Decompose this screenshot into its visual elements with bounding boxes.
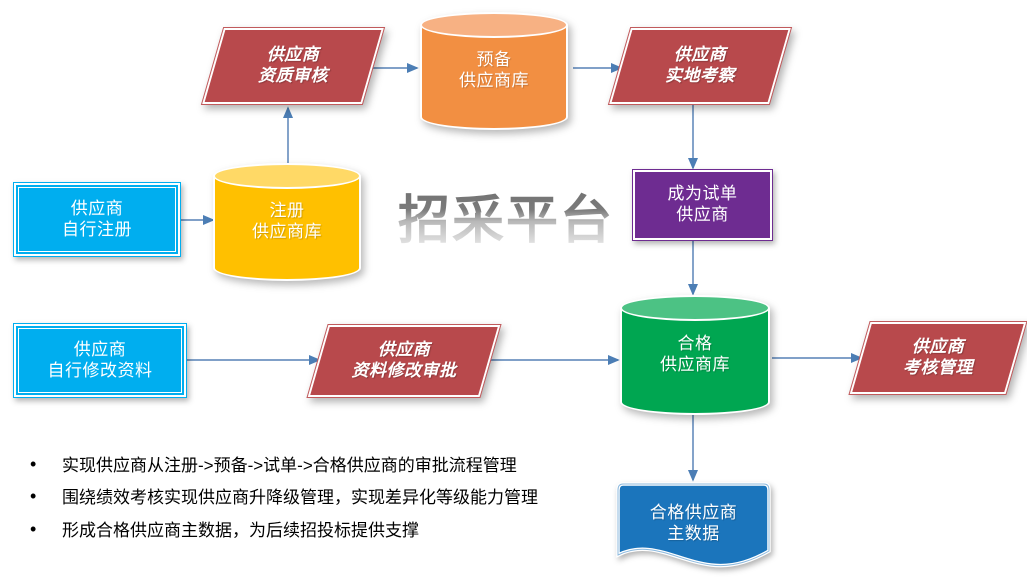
cylinder-top — [420, 12, 568, 38]
node-label: 供应商 自行注册 — [16, 199, 178, 240]
node-label: 供应商 资质审核 — [213, 45, 373, 86]
node-label: 供应商 自行修改资料 — [16, 340, 184, 381]
summary-bullet-list: 实现供应商从注册->预备->试单->合格供应商的审批流程管理 围绕绩效考核实现供… — [22, 455, 662, 552]
bullet-item: 围绕绩效考核实现供应商升降级管理，实现差异化等级能力管理 — [22, 487, 662, 508]
node-label: 合格 供应商库 — [620, 334, 770, 375]
node-assessment-management[interactable]: 供应商 考核管理 — [860, 322, 1016, 394]
bullet-item: 实现供应商从注册->预备->试单->合格供应商的审批流程管理 — [22, 455, 662, 476]
node-qualification-review[interactable]: 供应商 资质审核 — [213, 28, 373, 104]
node-label: 注册 供应商库 — [213, 201, 361, 242]
flowchart-canvas: 招采平台 供应商 自行注册 注册 供应商库 供应商 资质审核 预备 供应商库 供… — [0, 0, 1027, 583]
cylinder-top — [620, 295, 770, 321]
node-qualified-supplier-db[interactable]: 合格 供应商库 — [620, 295, 770, 415]
node-label: 供应商 实地考察 — [620, 45, 780, 86]
node-label: 供应商 考核管理 — [860, 337, 1016, 378]
node-data-change-approval[interactable]: 供应商 资料修改审批 — [318, 325, 490, 397]
node-supplier-self-register[interactable]: 供应商 自行注册 — [14, 183, 180, 256]
node-supplier-modify-data[interactable]: 供应商 自行修改资料 — [14, 324, 186, 397]
bullet-item: 形成合格供应商主数据，为后续招投标提供支撑 — [22, 520, 662, 541]
node-reserve-supplier-db[interactable]: 预备 供应商库 — [420, 12, 568, 130]
cylinder-top — [213, 163, 361, 189]
platform-watermark: 招采平台 — [398, 178, 614, 253]
node-on-site-inspection[interactable]: 供应商 实地考察 — [620, 28, 780, 104]
node-register-supplier-db[interactable]: 注册 供应商库 — [213, 163, 361, 281]
node-trial-order-supplier[interactable]: 成为试单 供应商 — [633, 170, 772, 240]
node-label: 预备 供应商库 — [420, 50, 568, 91]
node-label: 成为试单 供应商 — [635, 184, 770, 225]
node-label: 供应商 资料修改审批 — [318, 340, 490, 381]
